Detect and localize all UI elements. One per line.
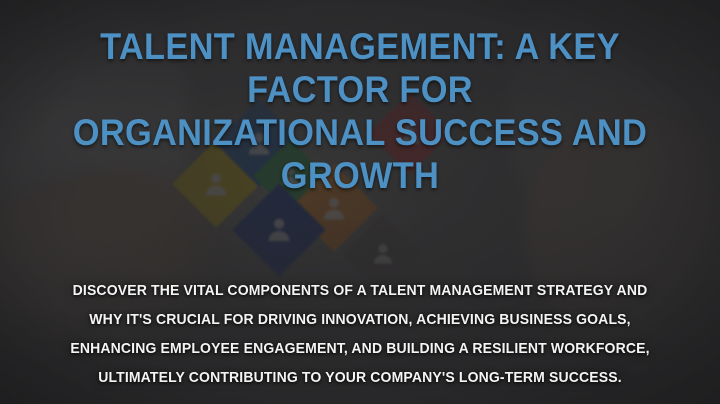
banner-image: TALENT MANAGEMENT: A KEY FACTOR FOR ORGA… bbox=[0, 0, 720, 404]
page-title: TALENT MANAGEMENT: A KEY FACTOR FOR ORGA… bbox=[38, 26, 682, 198]
text-layer: TALENT MANAGEMENT: A KEY FACTOR FOR ORGA… bbox=[0, 0, 720, 404]
description-text: DISCOVER THE VITAL COMPONENTS OF A TALEN… bbox=[39, 277, 680, 393]
